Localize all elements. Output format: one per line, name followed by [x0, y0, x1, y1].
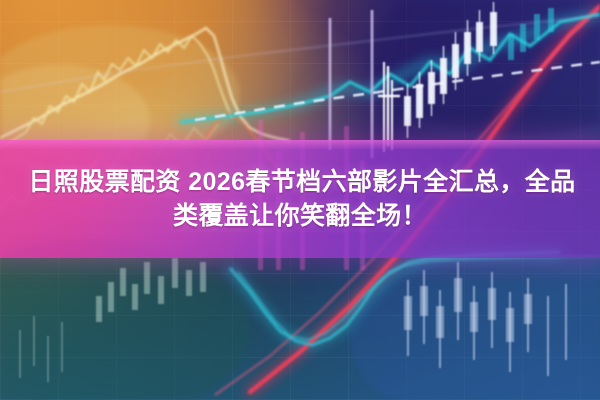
- headline-line-1: 日照股票配资 2026春节档六部影片全汇总，全品: [24, 168, 575, 196]
- promo-banner: 日照股票配资 2026春节档六部影片全汇总，全品 类覆盖让你笑翻全场！: [0, 0, 600, 400]
- headline-line-2: 类覆盖让你笑翻全场！: [173, 202, 427, 230]
- headline-text-block: 日照股票配资 2026春节档六部影片全汇总，全品 类覆盖让你笑翻全场！: [0, 140, 600, 258]
